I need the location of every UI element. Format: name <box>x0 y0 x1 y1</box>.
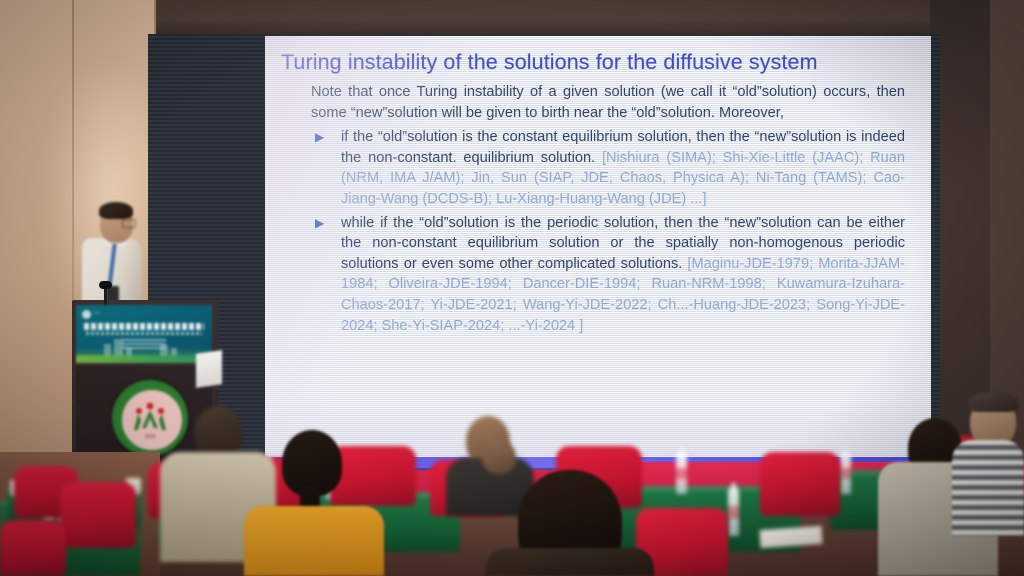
banner-green-band <box>76 355 212 363</box>
banner-subtitle <box>86 332 202 335</box>
bullet-triangle-icon: ▶ <box>311 213 341 337</box>
conference-photo-scene: Turing instability of the solutions for … <box>0 0 1024 576</box>
speaker-hair <box>99 202 133 219</box>
podium-banner: •••• <box>76 305 212 363</box>
audience-chair <box>0 520 66 576</box>
water-bottle <box>728 488 739 536</box>
banner-logo-icon <box>82 310 91 319</box>
slide-title: Turing instability of the solutions for … <box>281 50 921 74</box>
audience-chair <box>330 446 416 506</box>
audience-chair <box>60 482 136 548</box>
seal-artwork: 1916 <box>112 380 188 456</box>
audience-chair <box>760 452 840 516</box>
slide-intro-paragraph: Note that once Turing instability of a g… <box>311 82 905 123</box>
slide-body: Note that once Turing instability of a g… <box>311 82 905 336</box>
water-bottle <box>840 452 851 494</box>
presentation-slide: Turing instability of the solutions for … <box>265 36 931 479</box>
svg-text:1916: 1916 <box>144 434 155 440</box>
banner-headline <box>84 323 204 330</box>
slide-bullet-2: ▶ while if the “old”solution is the peri… <box>311 213 905 337</box>
banner-logo-text: •••• <box>94 310 100 315</box>
microphone-icon <box>99 281 112 289</box>
bullet-triangle-icon: ▶ <box>311 127 341 209</box>
slide-bullet-1: ▶ if the “old”solution is the constant e… <box>311 127 905 209</box>
speaker-glasses-icon <box>122 219 136 228</box>
university-seal-logo: 1916 <box>112 380 188 456</box>
water-bottle <box>676 452 687 494</box>
laptop <box>196 350 222 388</box>
